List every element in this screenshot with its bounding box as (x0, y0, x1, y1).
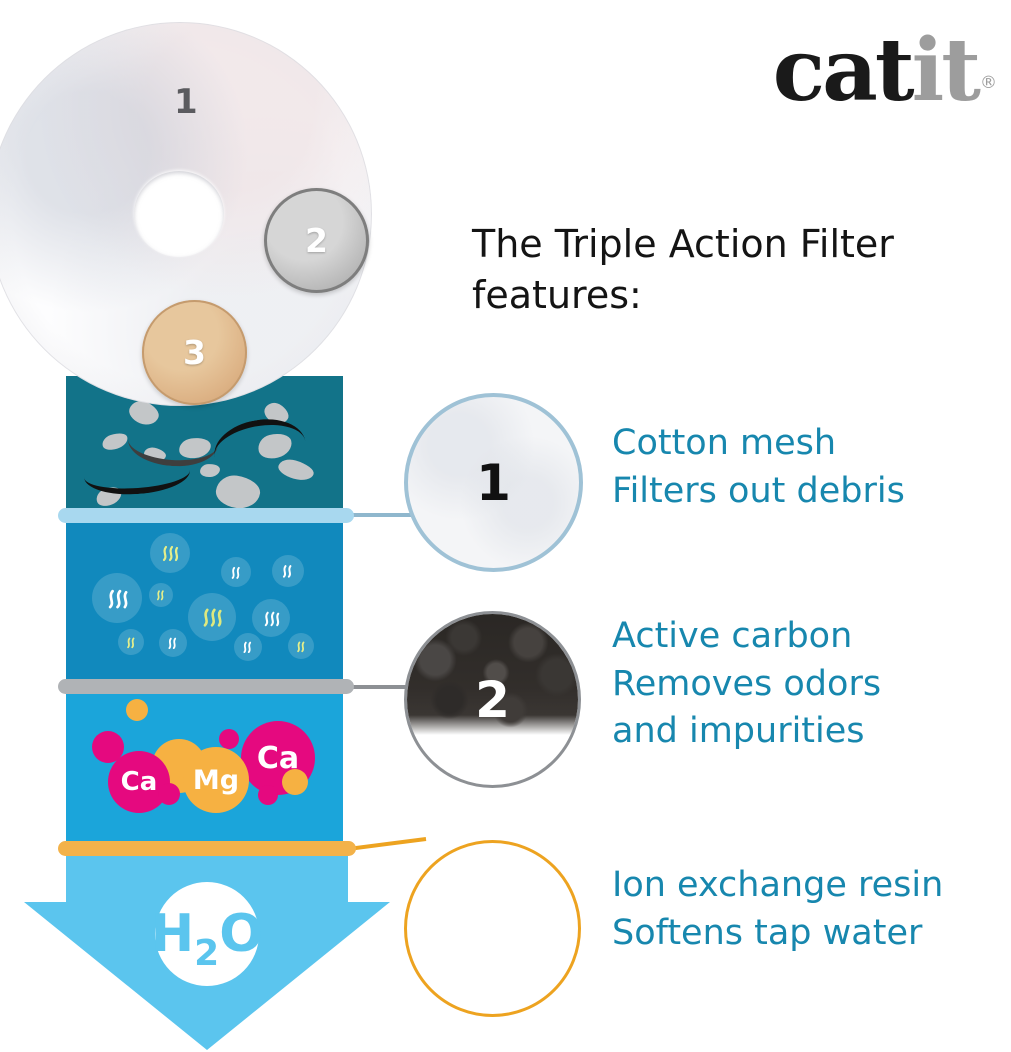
disc-pad-resin: 3 (142, 300, 247, 405)
odor-bubble (288, 633, 314, 659)
odor-squiggle-icon (294, 639, 309, 654)
logo-text-primary: cat (773, 20, 912, 121)
filter-disc-photo: 1 2 3 (0, 22, 372, 406)
mineral-ca-small: Ca (108, 751, 170, 813)
feature-swatch-active-carbon: 2 (404, 611, 581, 788)
feature-text-active-carbon: Active carbon Removes odors and impuriti… (612, 613, 1007, 756)
odor-bubble (188, 593, 236, 641)
h2o-label-sub: 2 (194, 933, 219, 974)
odor-bubble (221, 557, 251, 587)
water-output-arrow: H2O (22, 856, 392, 1052)
odor-bubble (118, 629, 144, 655)
feature-number-3: 3 (475, 900, 510, 958)
page-title-line-1: The Triple Action Filter (472, 219, 972, 270)
odor-squiggle-icon (199, 604, 225, 630)
odor-bubble (252, 599, 290, 637)
water-flow-column: Ca Ca Mg (66, 376, 343, 863)
odor-bubble (159, 629, 187, 657)
disc-label-cotton: 1 (174, 82, 198, 122)
feature-3-line-2: Softens tap water (612, 910, 1011, 958)
page-title-line-2: features: (472, 270, 972, 321)
odor-squiggle-icon (104, 585, 131, 612)
feature-1-line-2: Filters out debris (612, 468, 1007, 516)
odor-squiggle-icon (124, 635, 139, 650)
feature-swatch-ion-resin: 3 (404, 840, 581, 1017)
feature-1-line-1: Cotton mesh (612, 420, 1007, 468)
infographic-canvas: catit® The Triple Action Filter features… (0, 0, 1011, 1052)
layer-ion-exchange-resin: Ca Ca Mg (66, 683, 343, 863)
feature-3-line-1: Ion exchange resin (612, 862, 1011, 910)
logo-text-secondary: it (912, 20, 978, 121)
odor-squiggle-icon (159, 542, 181, 564)
disc-pad-carbon: 2 (264, 188, 369, 293)
catit-logo: catit® (757, 28, 997, 133)
divider-bar-resin (58, 841, 356, 856)
filter-center-hole (134, 171, 224, 257)
odor-squiggle-icon (154, 588, 168, 602)
feature-2-line-1: Active carbon (612, 613, 1007, 661)
mineral-dot (282, 769, 308, 795)
feature-swatch-cotton-mesh: 1 (404, 393, 583, 572)
mineral-dot (219, 729, 239, 749)
odor-squiggle-icon (228, 564, 245, 581)
odor-squiggle-icon (165, 635, 181, 651)
registered-trademark-icon: ® (980, 73, 997, 93)
odor-bubble (149, 583, 173, 607)
feature-2-line-2: Removes odors (612, 661, 1007, 709)
h2o-label-h: H (151, 904, 195, 964)
feature-number-1: 1 (476, 454, 511, 512)
feature-text-ion-resin: Ion exchange resin Softens tap water (612, 862, 1011, 957)
mineral-dot (126, 699, 148, 721)
odor-squiggle-icon (279, 562, 297, 580)
h2o-label-o: O (219, 904, 263, 964)
mineral-dot (158, 783, 180, 805)
divider-bar-carbon (58, 679, 354, 694)
debris-fleck (100, 430, 129, 452)
mineral-mg: Mg (183, 747, 249, 813)
odor-squiggle-icon (261, 608, 282, 629)
divider-bar-cotton (58, 508, 354, 523)
odor-squiggle-icon (240, 639, 256, 655)
odor-bubble (92, 573, 142, 623)
odor-bubble (234, 633, 262, 661)
leader-line-carbon (350, 685, 412, 689)
feature-number-2: 2 (475, 671, 510, 729)
odor-bubble (150, 533, 190, 573)
odor-bubble (272, 555, 304, 587)
layer-active-carbon (66, 521, 343, 683)
page-title: The Triple Action Filter features: (472, 219, 972, 320)
feature-2-line-3: and impurities (612, 708, 1007, 756)
feature-text-cotton-mesh: Cotton mesh Filters out debris (612, 420, 1007, 515)
mineral-dot (258, 785, 278, 805)
